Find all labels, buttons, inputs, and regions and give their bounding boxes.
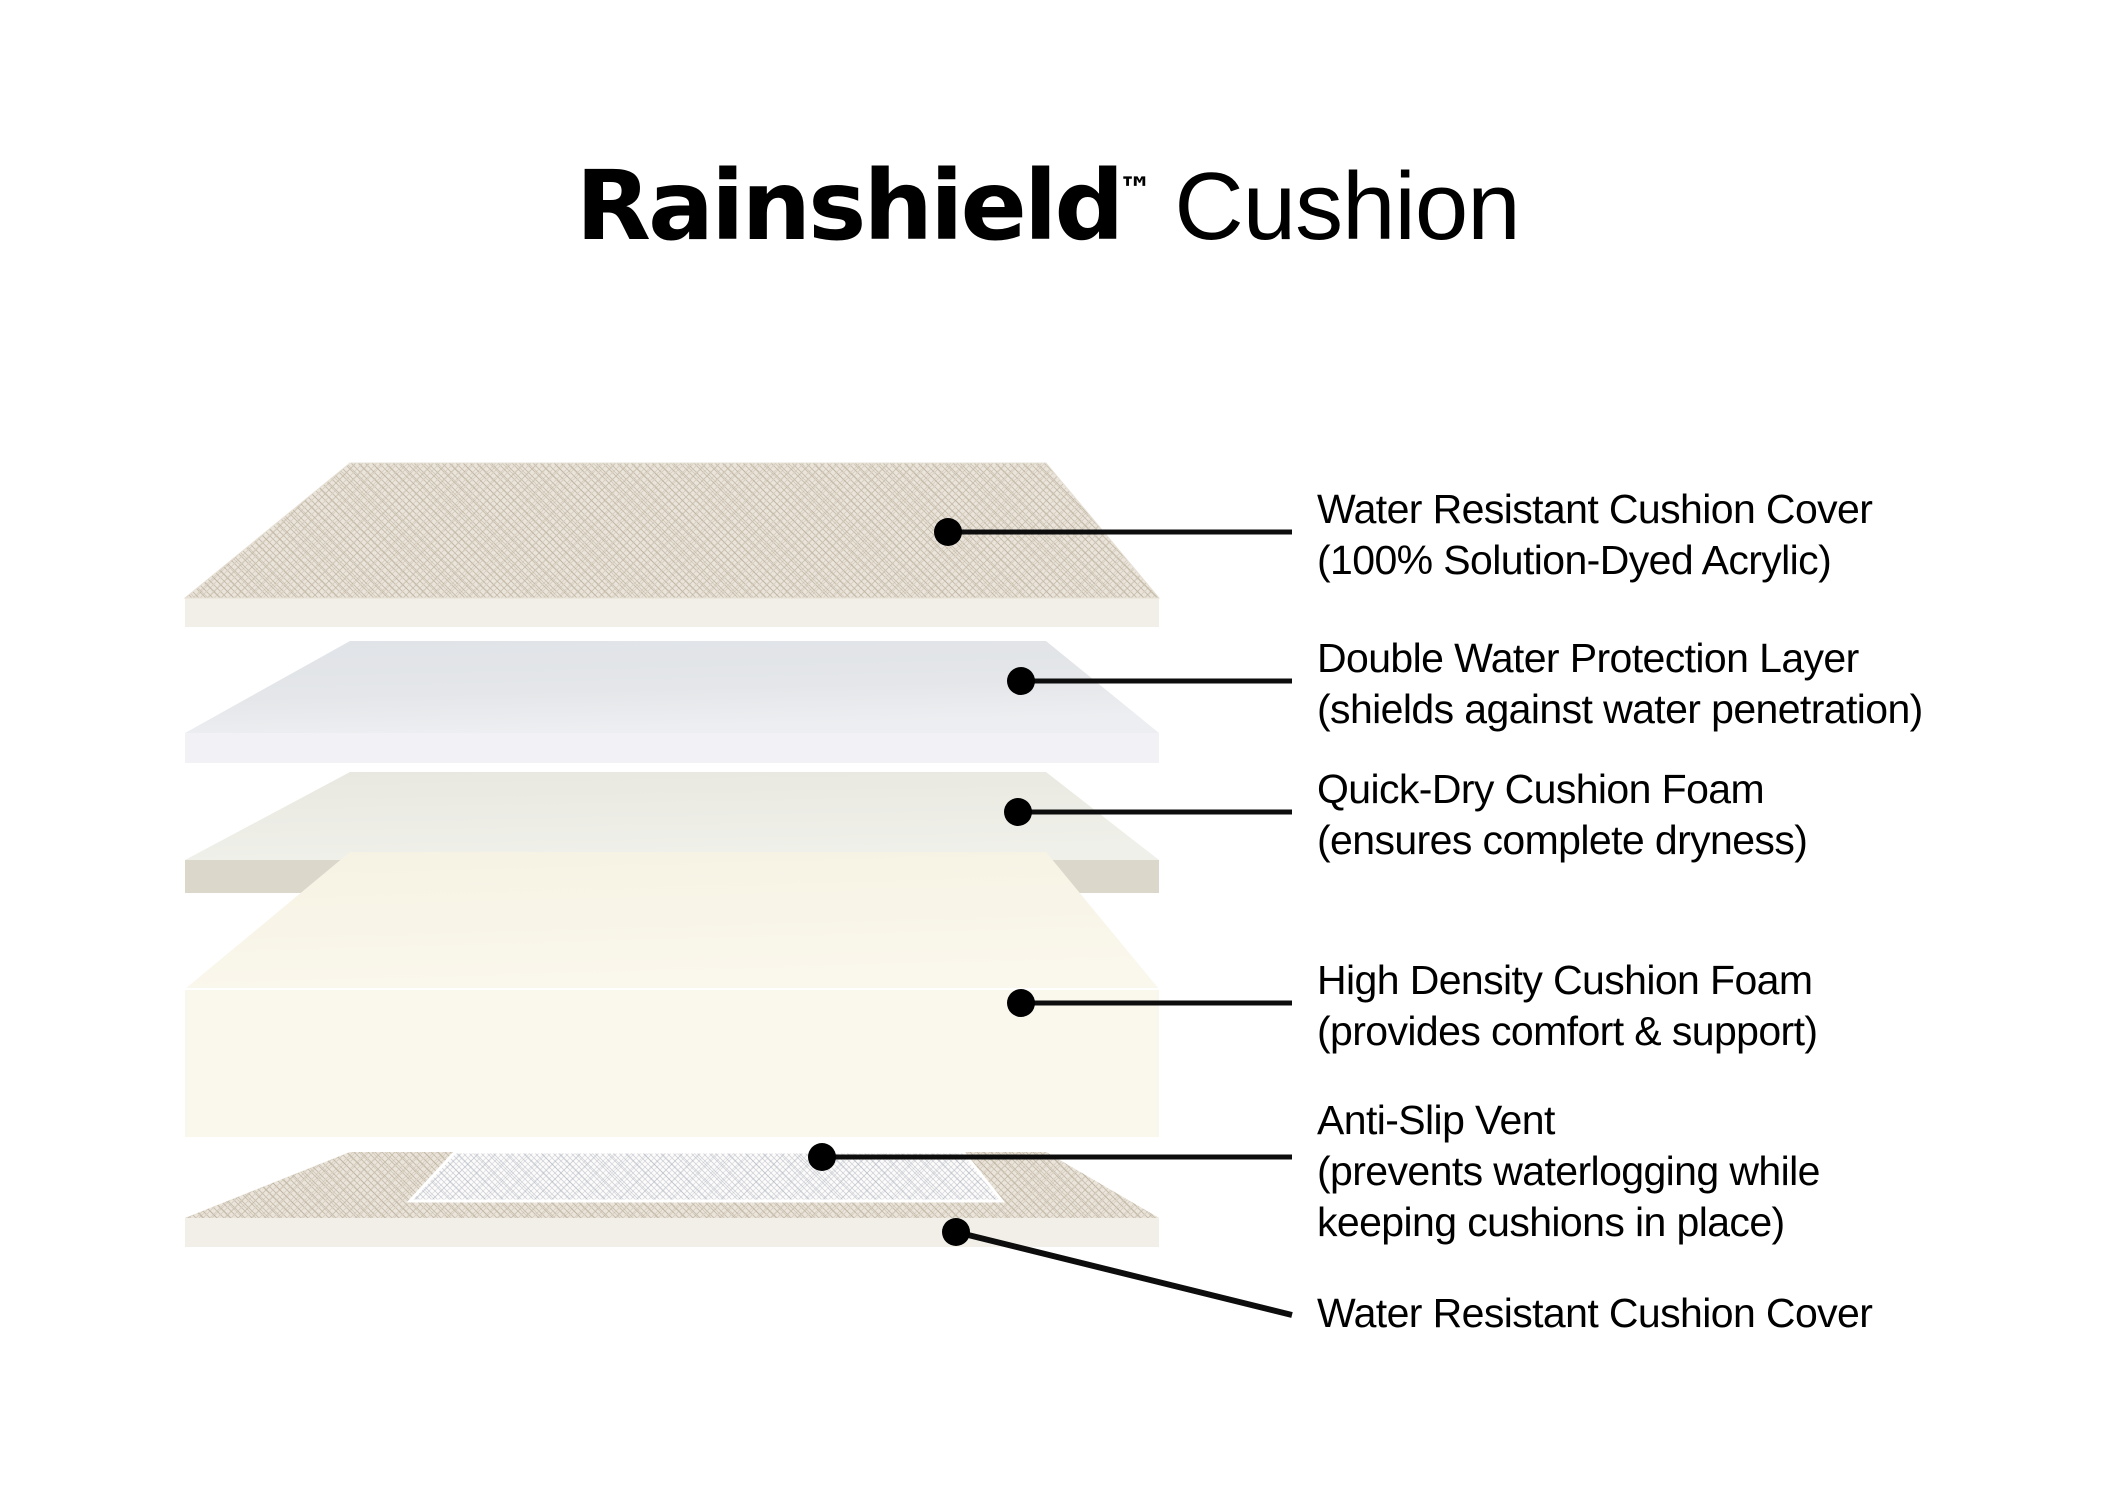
callout-title: Water Resistant Cushion Cover	[1317, 484, 1872, 535]
layer-water-resistant-cushion-cover	[185, 463, 1159, 627]
callout-title: Water Resistant Cushion Cover	[1317, 1288, 1872, 1339]
leader-dot	[1007, 667, 1035, 695]
callout-label-double-water-protection-layer: Double Water Protection Layer (shields a…	[1317, 633, 1923, 735]
callout-label-quick-dry-cushion-foam: Quick-Dry Cushion Foam (ensures complete…	[1317, 764, 1807, 866]
callout-label-anti-slip-vent: Anti-Slip Vent (prevents waterlogging wh…	[1317, 1095, 1820, 1248]
callout-title: Anti-Slip Vent	[1317, 1095, 1820, 1146]
layer-protection-edge	[185, 733, 1159, 763]
callout-label-water-resistant-cushion-cover-bottom: Water Resistant Cushion Cover	[1317, 1288, 1872, 1339]
callout-subtitle-line-1: (prevents waterlogging while	[1317, 1146, 1820, 1197]
layer-density-face	[185, 852, 1159, 989]
leader-dot	[942, 1218, 970, 1246]
callout-subtitle: (provides comfort & support)	[1317, 1006, 1817, 1057]
callout-subtitle: (shields against water penetration)	[1317, 684, 1923, 735]
layer-anti-slip-vent-cover	[185, 1148, 1159, 1247]
leader-dot	[1007, 989, 1035, 1017]
diagram-page: Rainshield™Cushion	[0, 0, 2101, 1501]
leader-dot	[808, 1143, 836, 1171]
layer-cover-edge	[185, 598, 1159, 627]
layer-double-water-protection	[185, 641, 1159, 763]
callout-label-water-resistant-cushion-cover: Water Resistant Cushion Cover (100% Solu…	[1317, 484, 1872, 586]
callout-title: Double Water Protection Layer	[1317, 633, 1923, 684]
leader-dot	[934, 518, 962, 546]
callout-subtitle: (ensures complete dryness)	[1317, 815, 1807, 866]
callout-label-high-density-cushion-foam: High Density Cushion Foam (provides comf…	[1317, 955, 1817, 1057]
callout-title: Quick-Dry Cushion Foam	[1317, 764, 1807, 815]
leader-dot	[1004, 798, 1032, 826]
cushion-layer-diagram	[0, 0, 2101, 1501]
callout-title: High Density Cushion Foam	[1317, 955, 1817, 1006]
layer-bottom-cover-edge	[185, 1218, 1159, 1247]
callout-subtitle: (100% Solution-Dyed Acrylic)	[1317, 535, 1872, 586]
callout-subtitle-line-2: keeping cushions in place)	[1317, 1197, 1820, 1248]
